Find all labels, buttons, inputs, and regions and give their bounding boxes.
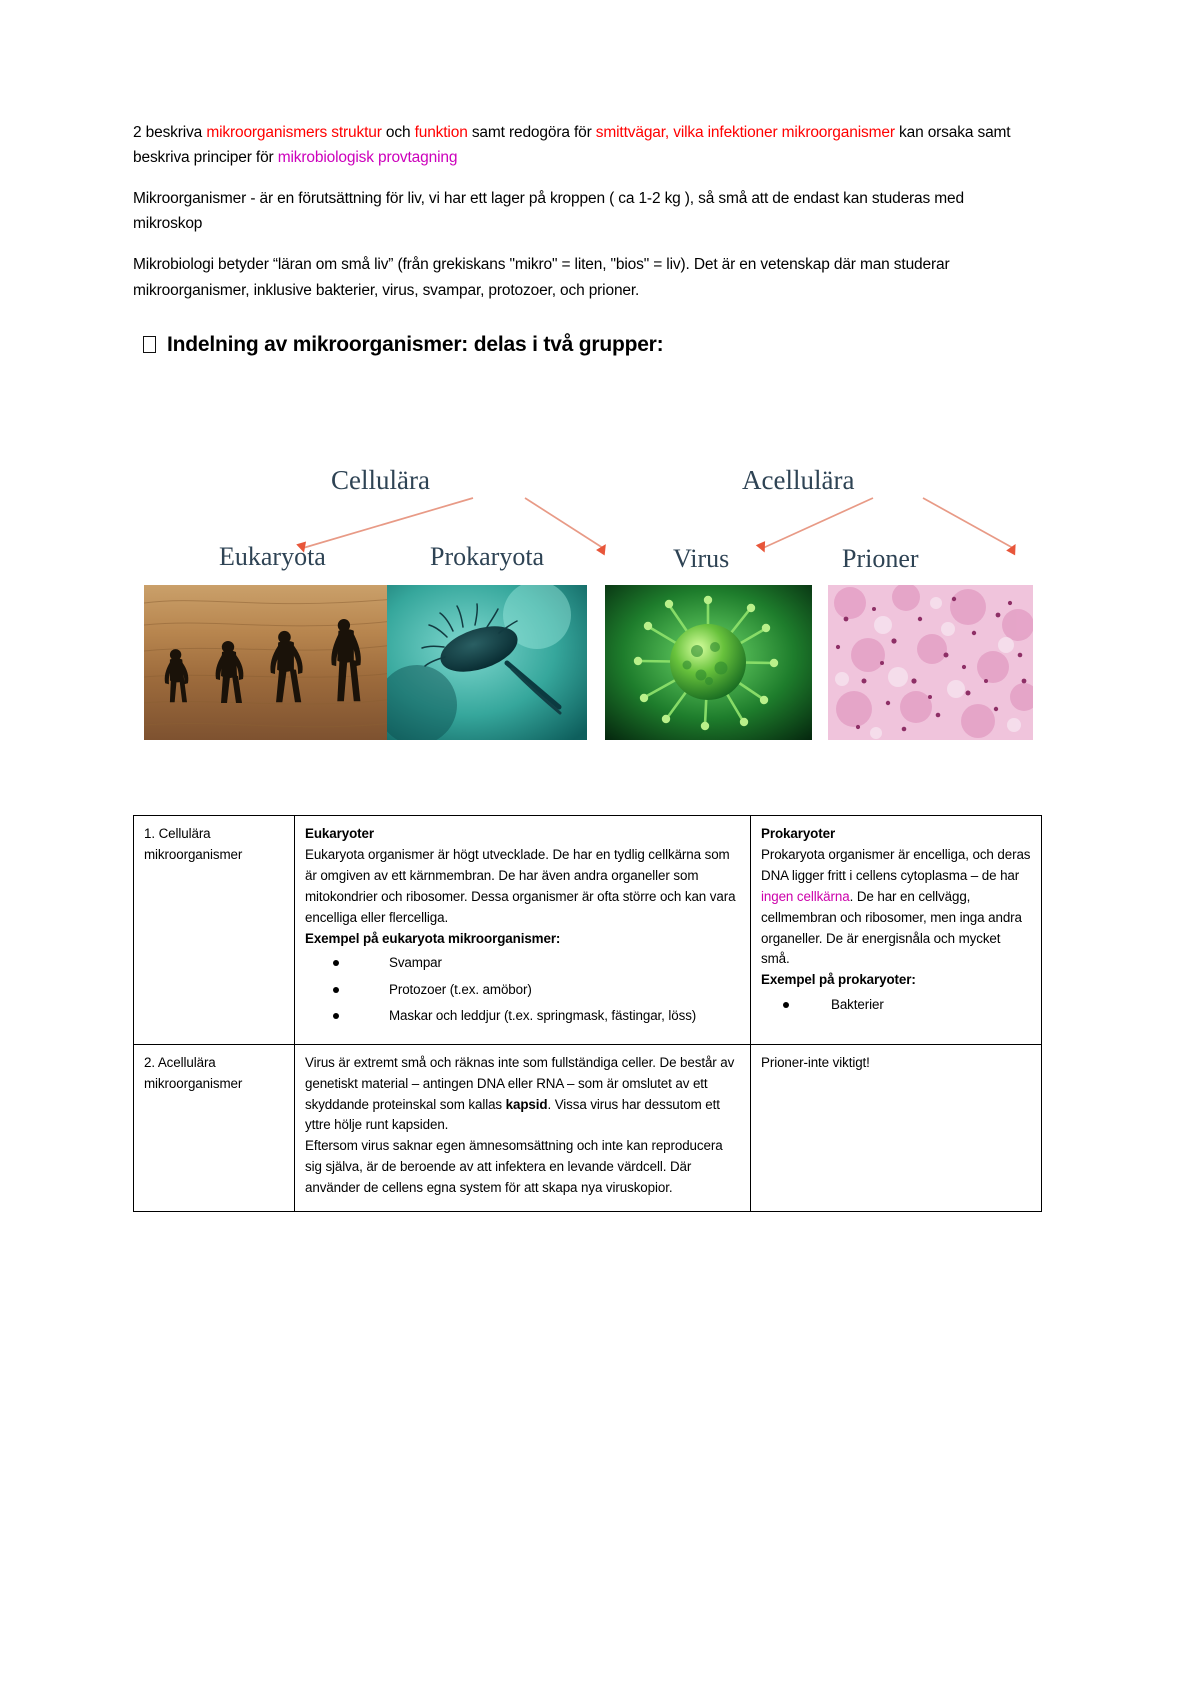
table-row: 1. Cellulära mikroorganismer Eukaryoter …	[134, 816, 1042, 1045]
objective-highlight-provtagning: mikrobiologisk provtagning	[278, 149, 458, 166]
objective-text-1: 2 beskriva	[133, 124, 206, 141]
arrow-acellulara-to-prioner	[923, 498, 1013, 548]
list-item: Svampar	[333, 953, 740, 979]
paragraph-mikroorganismer: Mikroorganismer - är en förutsättning fö…	[133, 186, 1013, 236]
image-prion-brain-tissue	[828, 585, 1033, 740]
list-item: Protozoer (t.ex. amöbor)	[333, 980, 740, 1006]
paragraph-mikrobiologi: Mikrobiologi betyder “läran om små liv” …	[133, 252, 1013, 302]
diagram-arrows	[133, 430, 1033, 610]
section-heading-label: Indelning av mikroorganismer: delas i tv…	[167, 333, 663, 357]
cell-row2-prioner: Prioner-inte viktigt!	[751, 1044, 1042, 1211]
cell-row1-prokaryoter: Prokaryoter Prokaryota organismer är enc…	[751, 816, 1042, 1045]
diagram-node-acellulara: Acellulära	[742, 465, 854, 496]
cell-body-eukaryoter: Eukaryota organismer är högt utvecklade.…	[305, 845, 740, 929]
cell-row2-label: 2. Acellulära mikroorganismer	[134, 1044, 295, 1211]
image-virus-particle	[605, 585, 812, 740]
arrow-cellulara-to-prokaryota	[525, 498, 603, 548]
objective-text-3: samt redogöra för	[468, 124, 596, 141]
list-item: Maskar och leddjur (t.ex. springmask, fä…	[333, 1006, 740, 1032]
objective-highlight-funktion: funktion	[415, 124, 468, 141]
arrow-acellulara-to-virus	[763, 498, 873, 548]
cell-body-virus-2: Eftersom virus saknar egen ämnesomsättni…	[305, 1136, 740, 1199]
objective-highlight-struktur: mikroorganismers struktur	[206, 124, 381, 141]
intro-text-block: 2 beskriva mikroorganismers struktur och…	[133, 120, 1013, 357]
diagram-node-cellulara: Cellulära	[331, 465, 430, 496]
objective-text-2: och	[382, 124, 415, 141]
cell-examples-title-eukaryoter: Exempel på eukaryota mikroorganismer:	[305, 929, 740, 950]
missing-glyph-box-icon	[143, 336, 156, 353]
virus-highlight-kapsid: kapsid	[506, 1097, 548, 1112]
classification-diagram: Cellulära Acellulära Eukaryota Prokaryot…	[133, 430, 1033, 760]
section-heading-indelning: Indelning av mikroorganismer: delas i tv…	[143, 333, 1013, 357]
cell-row1-eukaryoter: Eukaryoter Eukaryota organismer är högt …	[295, 816, 751, 1045]
list-item: Bakterier	[783, 995, 1031, 1021]
cell-body-virus-1: Virus är extremt små och räknas inte som…	[305, 1053, 740, 1137]
cell-body-prokaryoter: Prokaryota organismer är encelliga, och …	[761, 845, 1031, 970]
cell-row1-label: 1. Cellulära mikroorganismer	[134, 816, 295, 1045]
document-page: 2 beskriva mikroorganismers struktur och…	[0, 0, 1200, 1696]
image-bacterium	[387, 585, 587, 740]
diagram-node-prioner: Prioner	[842, 544, 919, 574]
table-row: 2. Acellulära mikroorganismer Virus är e…	[134, 1044, 1042, 1211]
diagram-node-eukaryota: Eukaryota	[219, 542, 326, 572]
diagram-image-row	[133, 585, 1033, 745]
bullet-list-eukaryoter: Svampar Protozoer (t.ex. amöbor) Maskar …	[305, 953, 740, 1031]
classification-table: 1. Cellulära mikroorganismer Eukaryoter …	[133, 815, 1042, 1212]
objective-highlight-smittvagar: smittvägar, vilka infektioner mikroorgan…	[596, 124, 895, 141]
prokaryoter-highlight-ingen-cellkarna: ingen cellkärna	[761, 889, 850, 904]
bullet-list-prokaryoter: Bakterier	[761, 995, 1031, 1021]
cell-title-prokaryoter: Prokaryoter	[761, 824, 1031, 845]
paragraph-learning-objective: 2 beskriva mikroorganismers struktur och…	[133, 120, 1013, 170]
diagram-node-prokaryota: Prokaryota	[430, 542, 544, 572]
diagram-node-virus: Virus	[673, 544, 729, 574]
arrow-cellulara-to-eukaryota	[303, 498, 473, 548]
cell-title-eukaryoter: Eukaryoter	[305, 824, 740, 845]
image-evolution-of-man	[144, 585, 394, 740]
cell-row2-virus: Virus är extremt små och räknas inte som…	[295, 1044, 751, 1211]
cell-examples-title-prokaryoter: Exempel på prokaryoter:	[761, 970, 1031, 991]
prokaryoter-text-1: Prokaryota organismer är encelliga, och …	[761, 847, 1030, 883]
